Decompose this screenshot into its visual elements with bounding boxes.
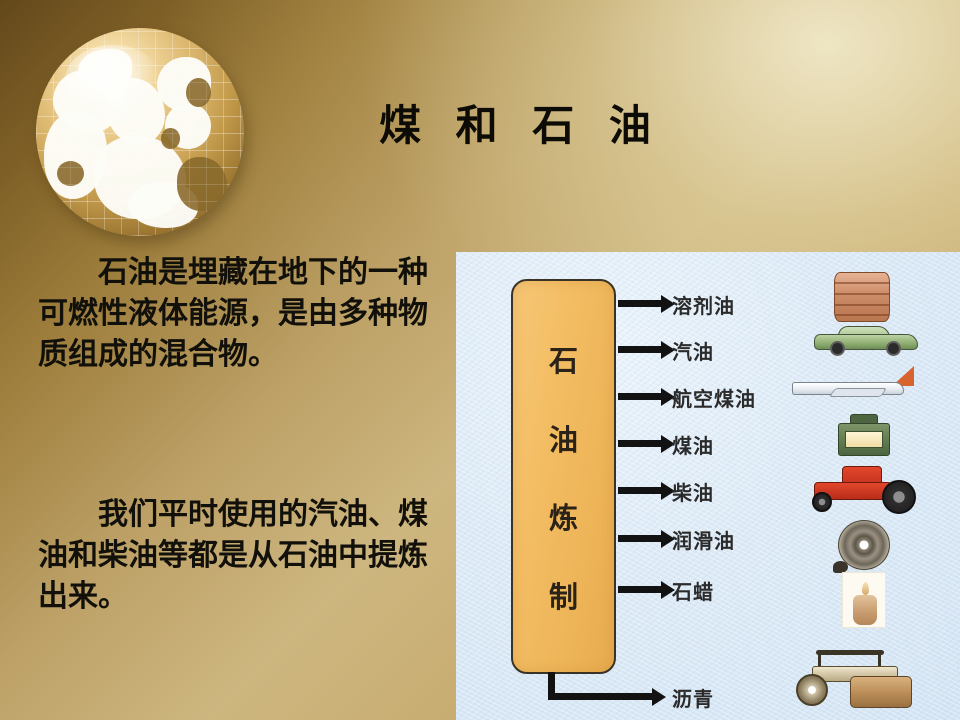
arrow-to-asphalt-horizontal [548,693,653,700]
arrow-to-paraffin-wax [618,586,662,593]
product-label-lubricant: 润滑油 [672,525,735,554]
product-label-asphalt: 沥青 [672,683,714,712]
candle-wax [853,595,877,625]
tractor-icon [792,460,922,516]
product-label-diesel: 柴油 [672,477,714,506]
candle-icon [796,572,926,628]
car-shape [814,326,918,356]
tractor-shape [808,464,916,514]
process-box-char-1: 石 [549,347,578,376]
airplane-wing [829,388,888,397]
lamp-glass [845,431,883,448]
bearing-shape [838,520,890,570]
arrow-to-jet-fuel [618,393,662,400]
road-roller-shape [794,648,918,710]
gear-bearing-icon [796,518,926,574]
car-wheel [886,341,901,356]
product-label-paraffin-wax: 石蜡 [672,576,714,605]
car-wheel [830,341,845,356]
roller-drum [850,676,912,708]
lamp-shape [838,414,890,460]
tractor-rear-wheel [882,480,916,514]
body-paragraph-1: 石油是埋藏在地下的一种可燃性液体能源，是由多种物质组成的混合物。 [38,252,438,375]
candle-flame [862,582,869,595]
barrel-rib [835,293,889,295]
body-paragraph-2: 我们平时使用的汽油、煤油和柴油等都是从石油中提炼出来。 [38,494,438,617]
product-label-jet-fuel: 航空煤油 [672,383,756,412]
airplane-icon [788,360,918,416]
slide-canvas: 煤 和 石 油 石油是埋藏在地下的一种可燃性液体能源，是由多种物质组成的混合物。… [0,0,960,720]
process-box-char-4: 制 [549,583,578,612]
process-box-char-3: 炼 [549,504,578,533]
arrow-to-lubricant [618,535,662,542]
page-title: 煤 和 石 油 [330,92,710,153]
process-box-char-2: 油 [549,426,578,455]
barrel-rib [835,282,889,284]
globe-graphic [28,22,252,254]
roller-canopy [816,650,884,655]
product-label-gasoline: 汽油 [672,336,714,365]
refining-diagram-panel: 石 油 炼 制 溶剂油 汽油 航空煤油 煤油 柴油 润滑油 石蜡 沥青 [456,252,960,720]
barrel-rib [835,304,889,306]
roller-wheel [796,674,828,706]
arrow-to-gasoline [618,346,662,353]
process-box-petroleum-refining: 石 油 炼 制 [511,279,616,674]
tractor-front-wheel [812,492,832,512]
product-label-kerosene: 煤油 [672,430,714,459]
globe-sphere [36,28,244,236]
candle-shape [842,572,886,628]
arrow-to-solvent-oil [618,300,662,307]
airplane-shape [792,368,916,406]
globe-grid-overlay [36,28,244,236]
kerosene-lamp-icon [796,410,926,466]
arrow-to-kerosene [618,440,662,447]
road-roller-icon [788,648,918,714]
product-label-solvent-oil: 溶剂油 [672,290,735,319]
arrow-to-diesel [618,487,662,494]
